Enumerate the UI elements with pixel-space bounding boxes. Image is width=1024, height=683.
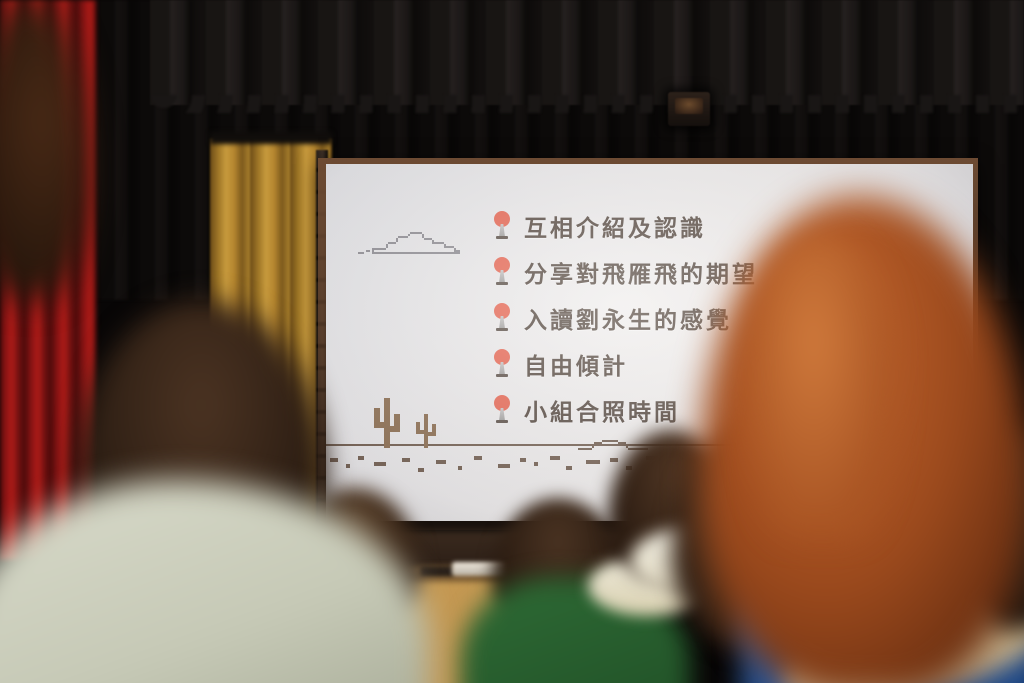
bullet-label: 互相介紹及認識 bbox=[524, 209, 706, 243]
map-pin-icon bbox=[494, 257, 510, 287]
map-pin-icon bbox=[494, 211, 510, 241]
podium-object bbox=[420, 566, 454, 577]
ceiling-projector bbox=[668, 92, 710, 126]
cloud-icon bbox=[358, 226, 478, 260]
list-item: 入讀劉永生的感覺 bbox=[494, 300, 758, 336]
photo-scene: 互相介紹及認識 分享對飛雁飛的期望 入讀劉永生的感覺 bbox=[0, 0, 1024, 683]
list-item: 小組合照時間 bbox=[494, 392, 758, 428]
list-item: 分享對飛雁飛的期望 bbox=[494, 254, 758, 290]
list-item: 自由傾計 bbox=[494, 346, 758, 382]
slide-canvas: 互相介紹及認識 分享對飛雁飛的期望 入讀劉永生的感覺 bbox=[326, 164, 973, 521]
map-pin-icon bbox=[494, 349, 510, 379]
slide-bullet-list: 互相介紹及認識 分享對飛雁飛的期望 入讀劉永生的感覺 bbox=[494, 208, 758, 428]
gold-stage-curtain bbox=[210, 138, 332, 558]
red-stage-curtain bbox=[0, 0, 96, 560]
bullet-label: 入讀劉永生的感覺 bbox=[524, 301, 732, 335]
list-item: 互相介紹及認識 bbox=[494, 208, 758, 244]
cloud-icon bbox=[826, 310, 936, 340]
podium-microphone bbox=[452, 562, 506, 576]
cactus-icon bbox=[370, 394, 404, 452]
curtain-valance bbox=[150, 0, 1024, 105]
map-pin-icon bbox=[494, 395, 510, 425]
wooden-podium bbox=[382, 580, 554, 683]
ground-specks bbox=[326, 450, 973, 484]
map-pin-icon bbox=[494, 303, 510, 333]
bullet-label: 小組合照時間 bbox=[524, 393, 680, 427]
bullet-label: 自由傾計 bbox=[524, 347, 628, 381]
dinosaur-icon bbox=[866, 386, 954, 450]
bullet-label: 分享對飛雁飛的期望 bbox=[524, 255, 758, 289]
cactus-icon bbox=[414, 412, 438, 452]
projection-screen-frame: 互相介紹及認識 分享對飛雁飛的期望 入讀劉永生的感覺 bbox=[318, 158, 978, 530]
projection-screen: 互相介紹及認識 分享對飛雁飛的期望 入讀劉永生的感覺 bbox=[326, 164, 973, 521]
